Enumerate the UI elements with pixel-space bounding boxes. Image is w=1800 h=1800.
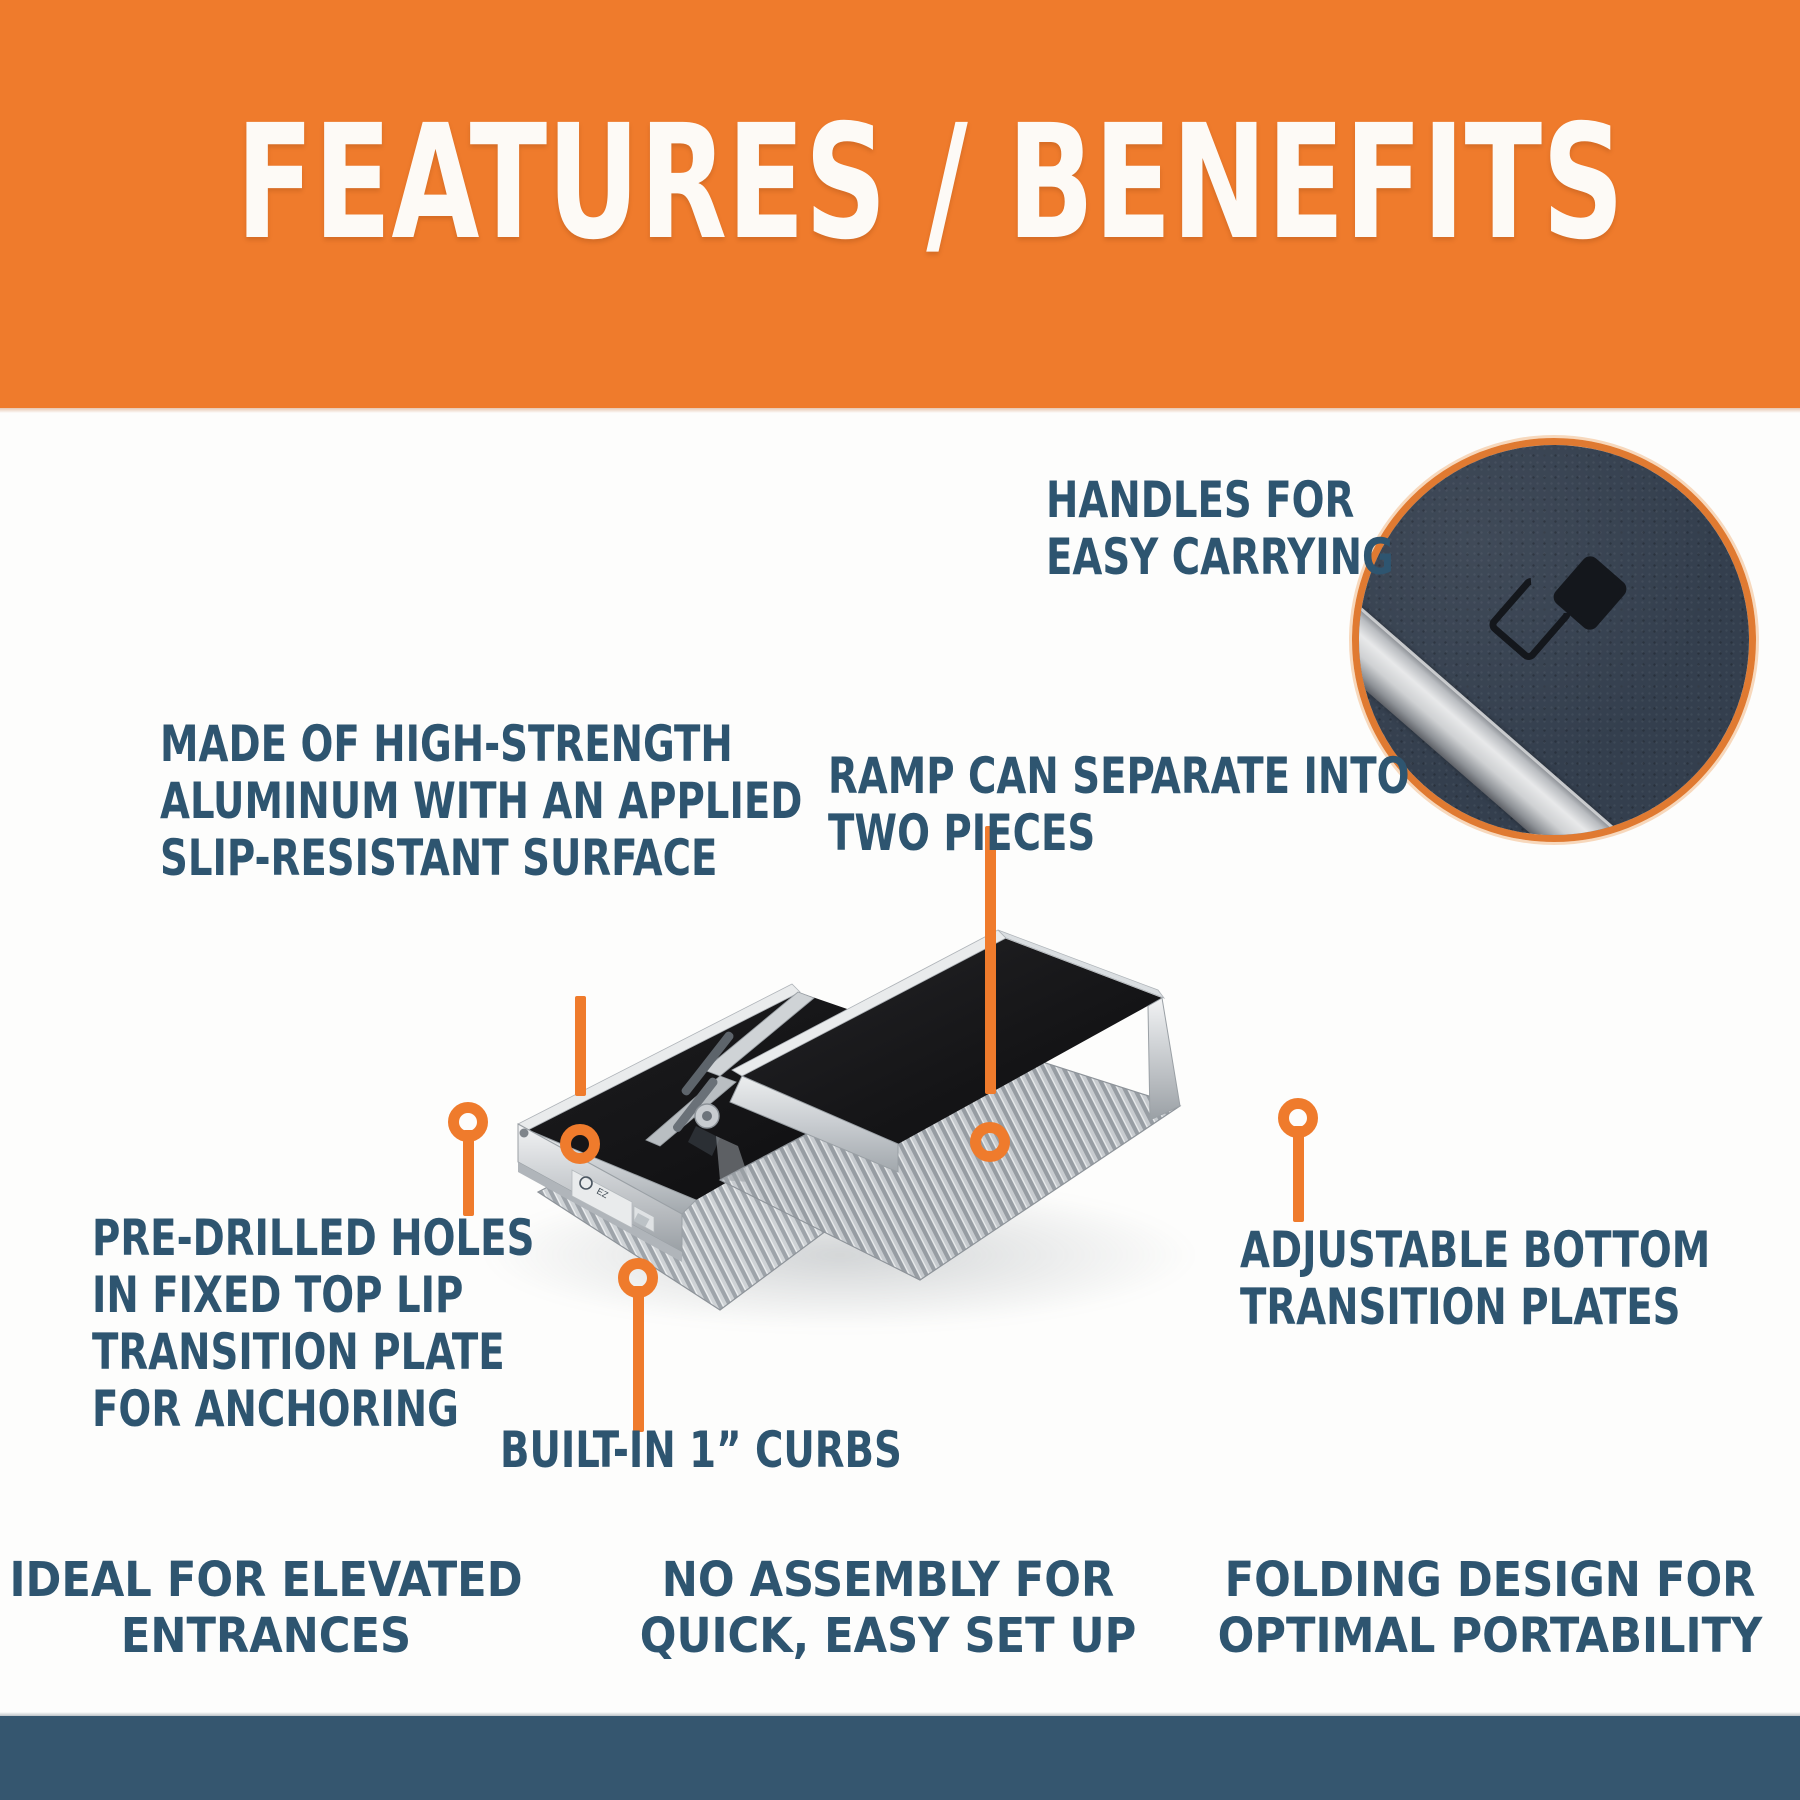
callout-adjustable-bottom-transition-plates: ADJUSTABLE BOTTOM TRANSITION PLATES [1240, 1222, 1710, 1336]
callout-pre-drilled-holes-for-anchoring: PRE-DRILLED HOLES IN FIXED TOP LIP TRANS… [92, 1210, 534, 1438]
callout-made-of-high-strength-aluminum: MADE OF HIGH-STRENGTH ALUMINUM WITH AN A… [160, 716, 802, 887]
marker-stem [985, 826, 996, 1094]
header-band: FEATURES / BENEFITS [0, 0, 1800, 408]
benefit-ideal-for-elevated-entrances: IDEAL FOR ELEVATED ENTRANCES [0, 1552, 546, 1664]
handle-detail-inset [1352, 438, 1756, 842]
page-title: FEATURES / BENEFITS [236, 108, 1356, 258]
marker-stem [1293, 1126, 1304, 1222]
pre-drilled-anchor-hole [520, 1129, 529, 1138]
callout-ramp-can-separate-into-two-pieces: RAMP CAN SEPARATE INTO TWO PIECES [828, 748, 1410, 862]
benefit-no-assembly-quick-easy-set-up: NO ASSEMBLY FOR QUICK, EASY SET UP [608, 1552, 1168, 1664]
marker-ring [970, 1122, 1010, 1162]
callout-handles-for-easy-carrying: HANDLES FOR EASY CARRYING [1046, 472, 1394, 586]
inset-photo-surface [1359, 445, 1749, 835]
marker-stem [463, 1130, 474, 1216]
marker-ring [560, 1124, 600, 1164]
benefit-folding-design-optimal-portability: FOLDING DESIGN FOR OPTIMAL PORTABILITY [1210, 1552, 1770, 1664]
infographic-canvas: FEATURES / BENEFITS [0, 0, 1800, 1800]
ramp-side-skirt-right [1148, 998, 1180, 1120]
ramp-illustration: EZ [420, 880, 1250, 1350]
marker-stem [575, 996, 586, 1096]
marker-stem [633, 1286, 644, 1432]
product-image: EZ [420, 880, 1250, 1350]
callout-built-in-curbs: BUILT-IN 1” CURBS [500, 1422, 902, 1479]
footer-band [0, 1716, 1800, 1800]
